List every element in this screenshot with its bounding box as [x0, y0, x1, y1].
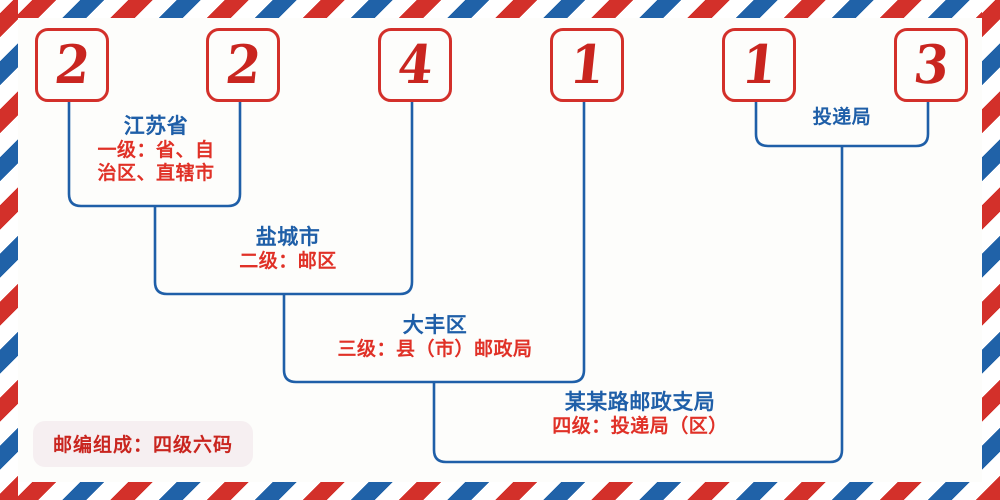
level-1-subtitle-line-2: 治区、直辖市 — [72, 162, 240, 185]
digit-box-5[interactable]: 1 — [722, 28, 796, 102]
level-3-subtitle: 三级：县（市）邮政局 — [305, 338, 565, 361]
level-2-subtitle-line-1: 二级：邮区 — [178, 250, 398, 273]
digit-5-value: 1 — [739, 39, 779, 92]
level-1-title: 江苏省 — [72, 114, 240, 139]
digit-3-value: 4 — [395, 39, 435, 92]
level-4-label: 某某路邮政支局 四级：投递局（区） — [505, 390, 775, 438]
level-3-title: 大丰区 — [305, 313, 565, 338]
legend-badge: 邮编组成：四级六码 — [33, 421, 253, 467]
digit-box-2[interactable]: 2 — [206, 28, 280, 102]
delivery-office-title: 投递局 — [758, 106, 926, 128]
legend-badge-text: 邮编组成：四级六码 — [53, 434, 233, 456]
level-4-subtitle: 四级：投递局（区） — [505, 415, 775, 438]
digit-box-6[interactable]: 3 — [894, 28, 968, 102]
level-1-subtitle-line-1: 一级：省、自 — [72, 139, 240, 162]
level-4-subtitle-line-1: 四级：投递局（区） — [505, 415, 775, 438]
digit-box-3[interactable]: 4 — [378, 28, 452, 102]
digit-box-4[interactable]: 1 — [550, 28, 624, 102]
digit-2-value: 2 — [223, 39, 263, 92]
level-1-subtitle: 一级：省、自 治区、直辖市 — [72, 139, 240, 185]
postcode-infographic: 2 2 4 1 1 3 江苏省 一级：省、自 治区、直辖市 盐城市 二级：邮区 … — [0, 0, 1000, 500]
level-1-label: 江苏省 一级：省、自 治区、直辖市 — [72, 114, 240, 185]
level-2-label: 盐城市 二级：邮区 — [178, 225, 398, 273]
digit-1-value: 2 — [52, 39, 92, 92]
level-2-subtitle: 二级：邮区 — [178, 250, 398, 273]
digit-box-1[interactable]: 2 — [35, 28, 109, 102]
digit-6-value: 3 — [911, 39, 951, 92]
level-3-label: 大丰区 三级：县（市）邮政局 — [305, 313, 565, 361]
digit-4-value: 1 — [567, 39, 607, 92]
level-2-title: 盐城市 — [178, 225, 398, 250]
level-3-subtitle-line-1: 三级：县（市）邮政局 — [305, 338, 565, 361]
level-4-title: 某某路邮政支局 — [505, 390, 775, 415]
delivery-office-label: 投递局 — [758, 106, 926, 128]
